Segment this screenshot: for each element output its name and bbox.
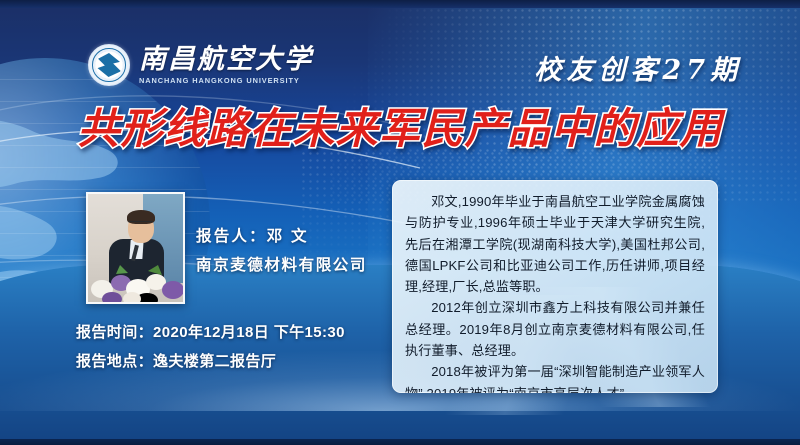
seminar-poster: 南昌航空大学 NANCHANG HANGKONG UNIVERSITY 校友创客… — [0, 0, 800, 445]
speaker-bio-panel: 邓文,1990年毕业于南昌航空工业学院金属腐蚀与防护专业,1996年硕士毕业于天… — [392, 180, 718, 393]
university-name-en: NANCHANG HANGKONG UNIVERSITY — [139, 77, 313, 84]
top-edge-band — [0, 0, 800, 8]
speaker-name-line: 报告人：邓 文 — [196, 222, 367, 251]
event-place-line: 报告地点：逸夫楼第二报告厅 — [76, 347, 345, 376]
university-logo: 南昌航空大学 NANCHANG HANGKONG UNIVERSITY — [88, 44, 313, 86]
event-meta: 报告时间：2020年12月18日 下午15:30 报告地点：逸夫楼第二报告厅 — [76, 318, 345, 377]
photo-speaker-glasses — [129, 221, 153, 226]
speaker-affiliation-line: 南京麦德材料有限公司 — [196, 251, 367, 280]
speaker-photo — [86, 192, 185, 304]
page-title: 共形线路在未来军民产品中的应用 — [0, 108, 800, 150]
bio-paragraph: 邓文,1990年毕业于南昌航空工业学院金属腐蚀与防护专业,1996年硕士毕业于天… — [405, 191, 705, 297]
university-name-cn: 南昌航空大学 — [139, 46, 313, 73]
issue-label: 校友创客27期 — [534, 48, 742, 87]
photo-flower-arrangement — [88, 265, 183, 302]
university-emblem-icon — [88, 44, 130, 86]
bio-paragraph: 2018年被评为第一届“深圳智能制造产业领军人物”,2019年被评为“南京市高层… — [405, 361, 705, 393]
event-time-line: 报告时间：2020年12月18日 下午15:30 — [76, 318, 345, 347]
speaker-info: 报告人：邓 文 南京麦德材料有限公司 — [196, 222, 367, 281]
bottom-edge-band — [0, 439, 800, 445]
emblem-bird-glyph — [96, 52, 122, 78]
bio-paragraph: 2012年创立深圳市鑫方上科技有限公司并兼任总经理。2019年8月创立南京麦德材… — [405, 297, 705, 361]
university-logo-text: 南昌航空大学 NANCHANG HANGKONG UNIVERSITY — [139, 46, 313, 84]
